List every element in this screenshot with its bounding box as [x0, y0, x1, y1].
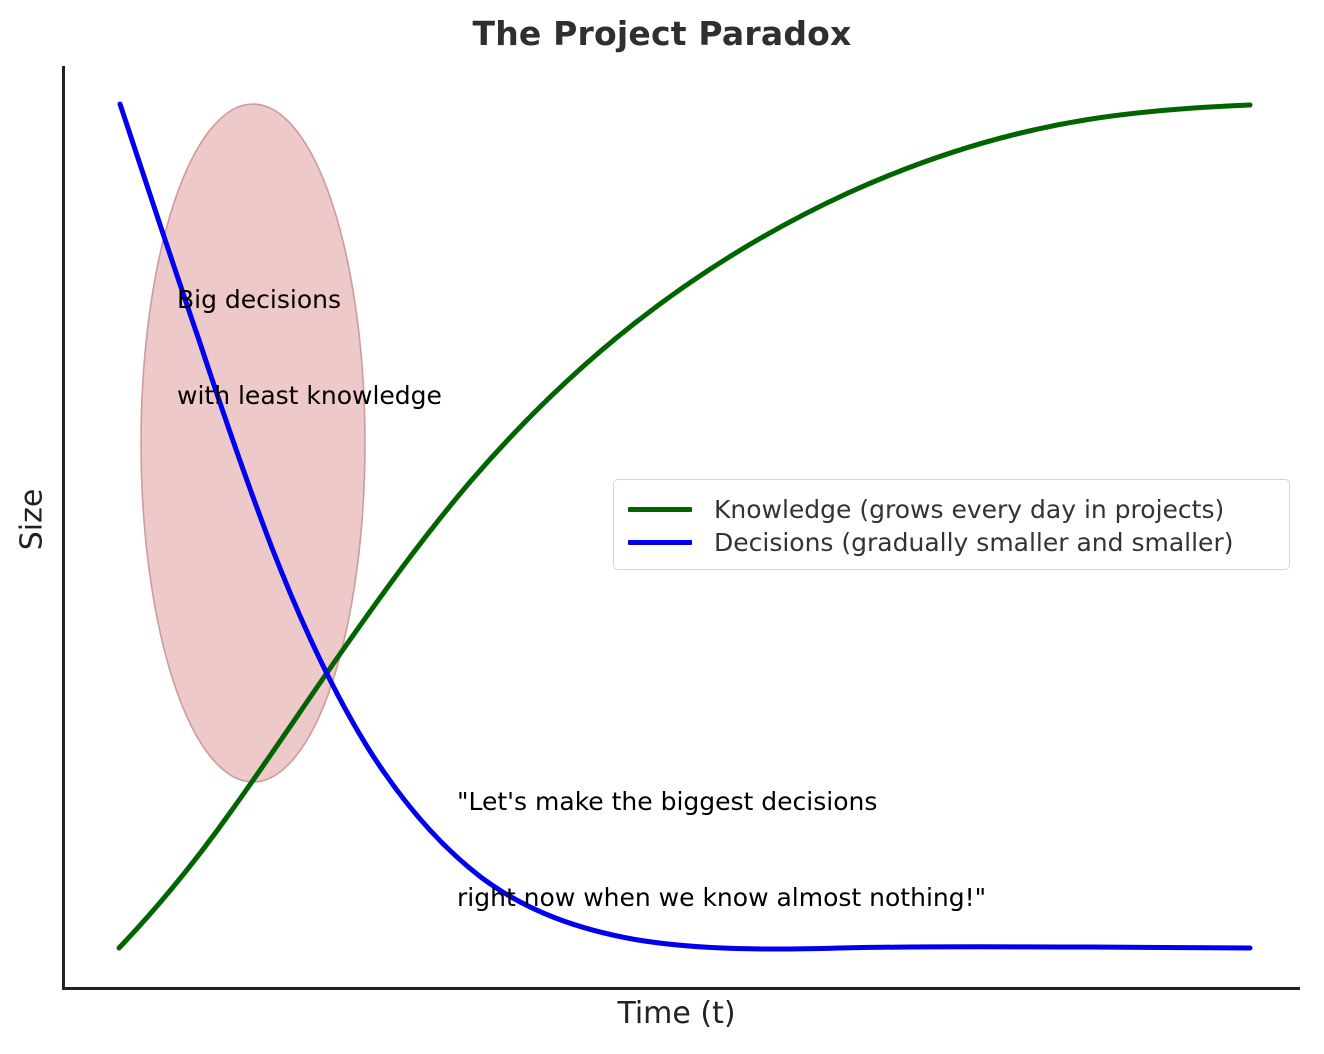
annotation-quote: "Let's make the biggest decisions right …: [457, 722, 986, 978]
x-axis-label: Time (t): [63, 996, 1290, 1031]
legend-item-knowledge[interactable]: Knowledge (grows every day in projects): [628, 493, 1275, 526]
chart-legend: Knowledge (grows every day in projects) …: [613, 479, 1290, 570]
legend-label-knowledge: Knowledge (grows every day in projects): [714, 495, 1224, 524]
legend-item-decisions[interactable]: Decisions (gradually smaller and smaller…: [628, 526, 1275, 559]
annotation-quote-line1: "Let's make the biggest decisions: [457, 786, 986, 818]
chart-figure: The Project Paradox Size Time (t) Big de…: [0, 0, 1324, 1054]
legend-line-swatch-knowledge: [628, 507, 692, 512]
legend-line-swatch-decisions: [628, 540, 692, 545]
annotation-big-decisions: Big decisions with least knowledge: [177, 220, 442, 476]
y-axis-label: Size: [15, 460, 50, 580]
annotation-big-decisions-line2: with least knowledge: [177, 380, 442, 412]
legend-label-decisions: Decisions (gradually smaller and smaller…: [714, 528, 1233, 557]
annotation-quote-line2: right now when we know almost nothing!": [457, 882, 986, 914]
annotation-big-decisions-line1: Big decisions: [177, 284, 442, 316]
